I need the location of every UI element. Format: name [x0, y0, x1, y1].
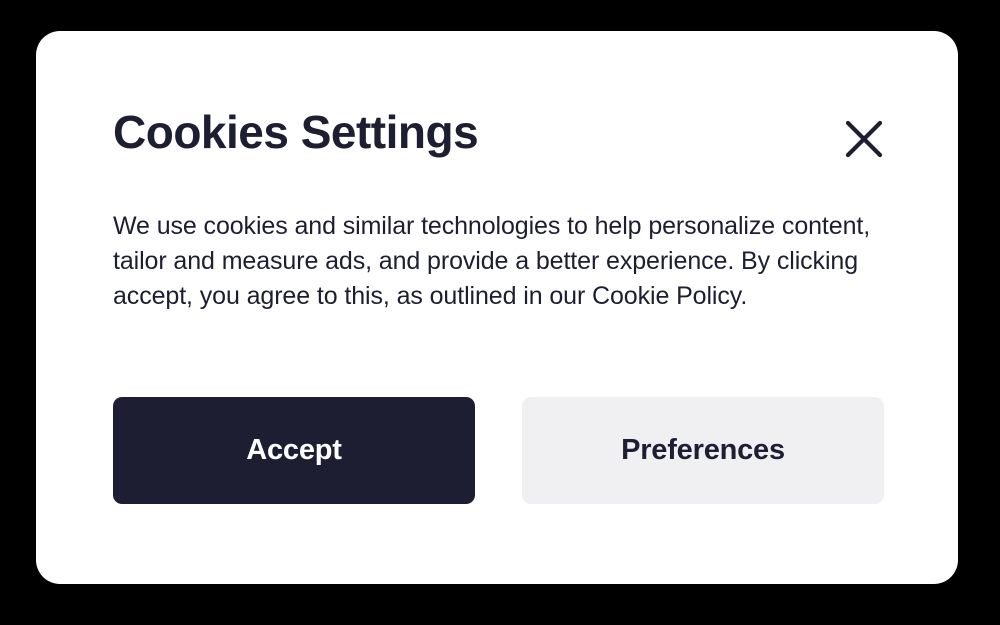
screen-backdrop: Cookies Settings We use cookies and simi…: [0, 0, 1000, 625]
dialog-header: Cookies Settings: [113, 103, 881, 175]
cookies-settings-dialog: Cookies Settings We use cookies and simi…: [36, 31, 958, 584]
preferences-button[interactable]: Preferences: [522, 397, 884, 504]
accept-button[interactable]: Accept: [113, 397, 475, 504]
dialog-description: We use cookies and similar technologies …: [113, 209, 897, 314]
dialog-actions: Accept Preferences: [113, 397, 884, 504]
close-button[interactable]: [838, 113, 890, 165]
page-title: Cookies Settings: [113, 103, 478, 161]
close-icon: [845, 120, 883, 158]
